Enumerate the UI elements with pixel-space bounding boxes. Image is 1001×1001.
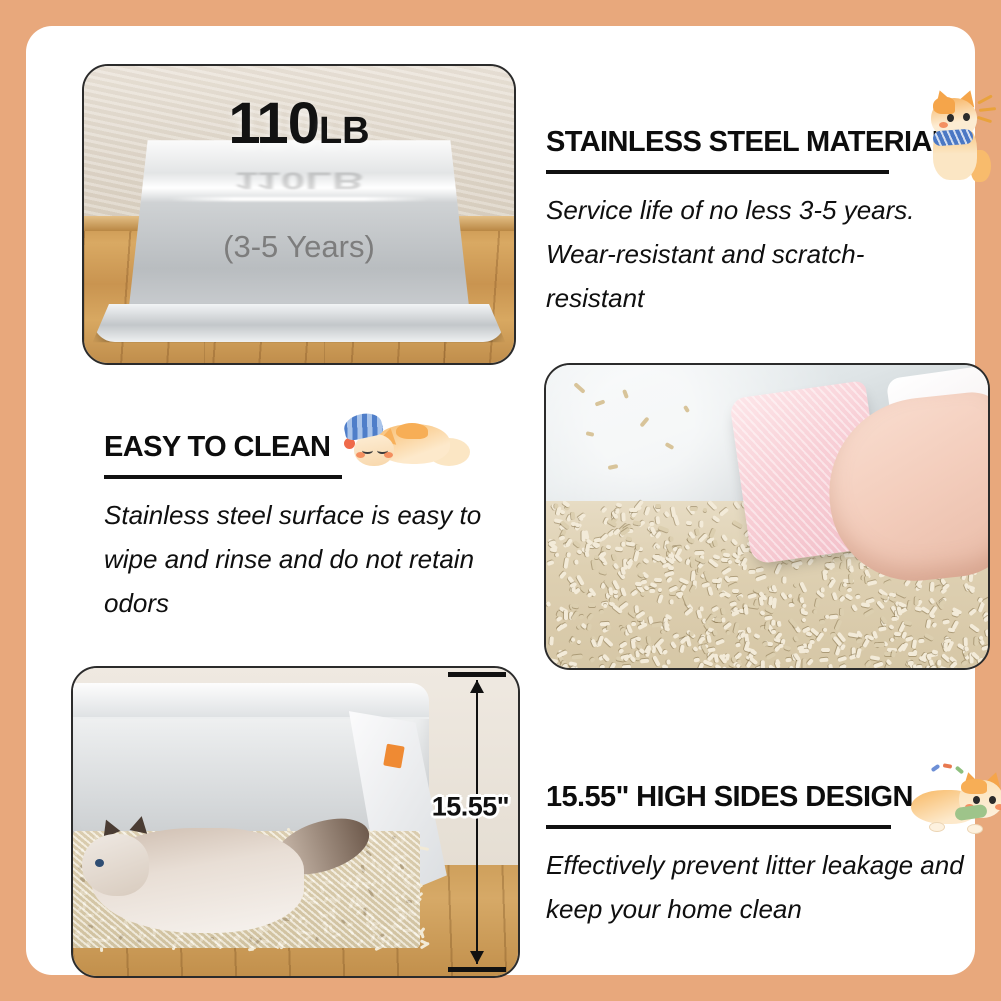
litter-pellet [605,544,611,550]
litter-pellet [379,924,389,930]
litter-pellet [890,637,895,642]
infographic-card: 110LB 110LB (3-5 Years) STAINLESS STEEL … [26,26,975,975]
litter-pellet [555,552,560,557]
litter-pellet [630,589,638,596]
litter-pellet [840,562,846,570]
litter-pellet [576,549,583,555]
litter-pellet [943,619,950,624]
litter-pellet [723,552,731,557]
litter-pellet [405,873,414,880]
litter-pellet [82,901,86,910]
litter-pellet [348,928,354,935]
spark-line [979,107,996,112]
litter-pellet [730,538,738,546]
litter-pellet [833,557,839,562]
litter-pellet [704,571,711,582]
litter-pellet [802,658,806,669]
litter-pellet [907,600,913,610]
litter-pellet [563,610,567,620]
litter-pellet [897,606,903,616]
litter-pellet [792,598,797,605]
litter-pellet [915,596,919,605]
litter-pellet [655,516,660,524]
cat-cheek-right [995,804,1001,810]
litter-pellet [712,515,721,523]
litter-pellet [896,590,908,598]
litter-pellet [611,553,617,561]
litter-pellet [673,553,682,562]
litter-pellet [963,637,967,647]
sleeping-cat-with-nightcap-icon [344,414,476,476]
litter-pellet [376,864,382,872]
litter-pellet [297,938,304,945]
litter-pellet [619,648,625,654]
litter-pellet [709,528,716,538]
litter-pellet [785,658,791,663]
litter-pellet [369,924,375,931]
spark-line [977,116,992,123]
litter-pellet [668,566,674,571]
litter-pellet [373,830,376,835]
litter-pellet [606,625,610,631]
litter-pellet [565,538,574,548]
litter-pellet [572,655,583,660]
litter-pellet [413,931,420,938]
litter-pellet [80,889,83,894]
height-dimension-label: 15.55" [432,791,509,822]
litter-pellet [756,574,767,581]
litter-pellet [392,924,402,929]
litter-pellet [371,860,375,867]
litter-pellet [928,597,935,604]
litter-pellet [366,912,372,917]
sitting-surprised-cat-icon [919,84,997,189]
litter-pellet [968,608,976,616]
litter-pellet [328,910,336,919]
confetti-piece [943,763,953,769]
heading-underline [104,475,342,479]
litter-pellet [546,601,551,607]
litter-pellet [753,633,760,639]
litter-pellet [340,878,345,887]
litter-pellet [401,892,407,899]
litter-pellet [328,898,337,904]
litter-pellet [382,935,385,943]
litter-pellet [699,521,703,528]
litter-pellet [643,557,651,564]
litter-pellet [732,588,739,592]
weight-number: 110 [228,91,319,156]
steel-box-lip [93,304,506,343]
cat-paw-left [929,822,945,832]
litter-pellet [393,942,400,948]
litter-pellet [87,925,94,929]
heading-underline [546,825,891,829]
litter-pellet [918,639,925,644]
litter-pellet [649,522,655,527]
litter-pellet [735,663,741,669]
litter-pellet [639,658,648,663]
litter-pellet [684,544,690,550]
heading-high-sides-design: 15.55" HIGH SIDES DESIGN [546,781,966,814]
litter-pellet [644,506,651,516]
dimension-cap-top [448,672,506,677]
litter-pellet [748,569,756,573]
litter-pellet [834,620,842,632]
litter-pellet [821,647,830,651]
litter-pellet [891,616,898,620]
litter-pellet [354,882,360,890]
orange-latch [383,744,404,768]
litter-pellet [831,592,837,600]
outer-border-frame: 110LB 110LB (3-5 Years) STAINLESS STEEL … [0,0,1001,1001]
litter-pellet [214,939,222,947]
litter-pellet [393,908,402,912]
weight-capacity-label: 110LB [84,90,514,157]
litter-pellet [600,507,607,514]
litter-pellet [931,621,937,627]
litter-pellet [629,508,638,512]
litter-pellet [727,559,733,565]
litter-pellet [762,642,768,647]
litter-pellet [234,936,237,941]
litter-pellet [372,927,378,931]
litter-pellet [386,929,393,935]
cat-head-patch [933,97,955,114]
litter-pellet [399,863,404,869]
litter-pellet [136,939,142,944]
litter-pellet [815,598,821,608]
litter-pellet [332,933,341,939]
litter-pellet [865,598,874,604]
litter-pellet [708,558,719,568]
litter-pellet [618,641,627,649]
litter-pellet [621,512,625,521]
litter-pellet [634,605,639,613]
litter-pellet [282,918,291,921]
litter-pellet [401,834,405,843]
litter-pellet [403,928,412,931]
litter-pellet [563,557,569,568]
litter-pellet [670,600,674,606]
litter-pellet [613,562,620,569]
litter-pellet [357,903,364,906]
litter-pellet [306,932,313,936]
litter-pellet [85,913,94,917]
heading-underline [546,170,889,174]
cat-eye-left [947,114,954,122]
litter-pellet [315,937,320,943]
litter-pellet [706,634,712,643]
litter-pellet [399,854,407,859]
litter-pellet [755,568,763,574]
litter-pellet [748,593,757,599]
litter-pellet [347,922,354,927]
litter-pellet [888,624,894,630]
litter-pellet [760,661,764,670]
litter-pellet [363,882,370,889]
litter-pellet [576,574,585,585]
litter-pellet [289,914,295,922]
litter-pellet [733,501,741,510]
litter-pellet [602,653,611,662]
litter-pellet [828,579,836,589]
litter-pellet [707,586,713,596]
litter-pellet [722,617,726,622]
litter-pellet [777,643,783,648]
litter-pellet [258,928,264,936]
litter-pellet [391,840,400,847]
body-stainless-steel-material: Service life of no less 3-5 years. Wear-… [546,188,936,320]
litter-pellet [582,531,586,542]
litter-pellet [176,938,183,942]
litter-pellet [711,606,719,613]
litter-pellet [782,576,786,583]
litter-pellet [394,854,399,860]
litter-pellet [387,873,392,882]
litter-pellet [100,919,105,923]
litter-pellet [948,627,955,632]
litter-pellet [828,664,834,670]
litter-pellet [807,658,814,666]
litter-pellet [872,661,883,668]
litter-pellet [83,892,87,895]
litter-pellet [249,936,253,942]
litter-box-rim [71,683,429,719]
litter-pellet [828,614,838,619]
litter-pellet [758,596,763,605]
litter-pellet [632,520,641,526]
litter-pellet [664,622,668,631]
section-stainless-steel-material: STAINLESS STEEL MATERIAL Service life of… [546,126,946,320]
dimension-cap-bottom [448,967,506,972]
litter-pellet [390,858,399,862]
litter-pellet [813,610,818,615]
litter-pellet [667,659,671,664]
litter-pellet [379,869,384,873]
litter-pellet [723,622,733,631]
litter-pellet [379,932,385,938]
litter-pellet [626,536,633,541]
litter-pellet [260,939,269,944]
litter-pellet [961,660,968,666]
litter-pellet [801,617,807,623]
litter-pellet [694,550,705,555]
litter-pellet [216,938,221,944]
litter-pellet [547,560,555,566]
litter-pellet [982,596,990,605]
litter-pellet [573,540,582,548]
section-high-sides-design: 15.55" HIGH SIDES DESIGN Effectively pre… [546,781,966,931]
litter-pellet [100,947,103,952]
cat-cheek-right [384,452,393,458]
litter-pellet [721,534,728,542]
litter-pellet [732,520,743,529]
litter-pellet [398,864,405,872]
litter-pellet [309,901,318,905]
litter-pellet [613,590,618,595]
litter-pellet [713,540,719,548]
litter-pellet [74,849,80,856]
litter-pellet [323,913,329,917]
litter-pellet [397,916,405,922]
litter-pellet [969,623,980,633]
litter-pellet [396,895,400,903]
litter-pellet [295,927,300,934]
litter-pellet [347,877,353,887]
litter-pellet [365,850,372,857]
litter-pellet [357,939,364,946]
litter-pellet [680,644,685,653]
litter-pellet [96,906,100,913]
litter-pellet [929,582,934,592]
litter-pellet [361,865,366,873]
litter-pellet [689,584,696,593]
litter-pellet [894,632,901,637]
litter-pellet [392,835,397,840]
product-photo-wipe-clean [544,363,990,670]
litter-pellet [350,897,355,907]
litter-pellet [661,664,668,670]
product-photo-cat-high-sides: 15.55" [71,666,520,978]
litter-pellet [916,665,923,670]
litter-pellet [851,604,858,612]
litter-pellet [262,925,269,932]
litter-pellet [253,937,262,945]
steel-highlight [168,197,429,201]
litter-pellet [707,500,717,510]
litter-pellet [377,887,384,895]
heading-stainless-steel-material: STAINLESS STEEL MATERIAL [546,126,946,159]
litter-pellet [800,582,808,593]
litter-pellet [280,922,285,927]
litter-pellet [324,924,328,934]
litter-pellet [328,925,332,933]
body-high-sides-design: Effectively prevent litter leakage and k… [546,843,966,931]
litter-pellet [390,887,397,895]
litter-pellet [712,554,720,560]
litter-pellet [306,897,316,901]
litter-pellet [382,934,387,939]
litter-pellet [392,866,402,871]
litter-pellet [943,642,948,648]
litter-pellet [319,885,324,894]
litter-pellet [630,639,635,648]
litter-pellet [777,620,782,627]
litter-pellet [598,569,607,575]
litter-pellet [577,639,582,644]
litter-pellet [281,941,287,947]
litter-pellet [552,663,559,670]
lying-cat-with-scarf-icon [911,766,1001,840]
litter-pellet [712,579,721,583]
weight-reflection-text: 110LB [84,166,514,194]
litter-pellet [655,544,660,550]
litter-pellet [870,655,880,661]
litter-pellet [86,941,92,947]
cat-back-patch [396,423,428,439]
litter-pellet [580,586,588,594]
litter-pellet [318,911,325,920]
litter-pellet [784,645,792,651]
litter-pellet [363,907,367,915]
litter-pellet [799,596,804,602]
litter-pellet [597,635,604,647]
litter-pellet [669,536,673,541]
litter-pellet [712,629,718,636]
litter-pellet [603,637,613,647]
litter-pellet [89,937,99,940]
litter-pellet [210,937,215,940]
litter-pellet [883,580,892,587]
litter-pellet [349,901,354,909]
litter-pellet [406,874,414,877]
spark-line [977,94,993,104]
litter-pellet [768,596,773,606]
litter-pellet [369,915,375,923]
litter-pellet [175,932,183,938]
litter-pellet [321,875,329,880]
litter-pellet [985,630,990,638]
litter-pellet [305,936,311,941]
litter-pellet [599,664,605,670]
cat-cheek [939,122,948,128]
litter-pellet [623,657,629,663]
litter-pellet [558,535,565,541]
litter-pellet [98,939,106,942]
litter-pellet [200,935,204,941]
litter-pellet [658,588,663,593]
litter-pellet [780,591,788,600]
litter-pellet [371,921,379,925]
litter-pellet [655,504,661,508]
litter-pellet [370,934,376,942]
litter-pellet [397,871,402,877]
litter-pellet [733,608,737,613]
litter-pellet [854,595,860,600]
litter-pellet [911,640,916,649]
cat-paw-right [967,824,983,834]
litter-pellet [549,636,554,645]
litter-pellet [793,582,799,588]
cat-bandana [933,129,974,147]
litter-pellet [399,915,408,919]
litter-pellet [371,880,377,886]
litter-pellet [929,613,935,619]
litter-pellet [394,922,404,930]
litter-pellet [695,528,700,536]
body-easy-to-clean: Stainless steel surface is easy to wipe … [104,493,494,625]
litter-pellet [649,588,655,592]
litter-pellet [588,603,596,607]
litter-pellet [719,507,729,517]
product-photo-steel-box: 110LB 110LB (3-5 Years) [82,64,516,365]
litter-pellet [388,937,391,941]
litter-pellet [570,511,575,520]
litter-pellet [631,622,637,626]
litter-pellet [982,645,990,651]
litter-pellet [236,934,240,941]
litter-pellet [355,908,362,915]
cat-eye-right [963,113,970,121]
litter-pellet [188,942,194,946]
litter-pellet [323,896,329,903]
litter-pellet [954,667,960,670]
litter-pellet [603,604,608,609]
litter-pellet [719,592,726,598]
cat-eye-right [989,796,996,804]
litter-pellet [746,627,752,634]
